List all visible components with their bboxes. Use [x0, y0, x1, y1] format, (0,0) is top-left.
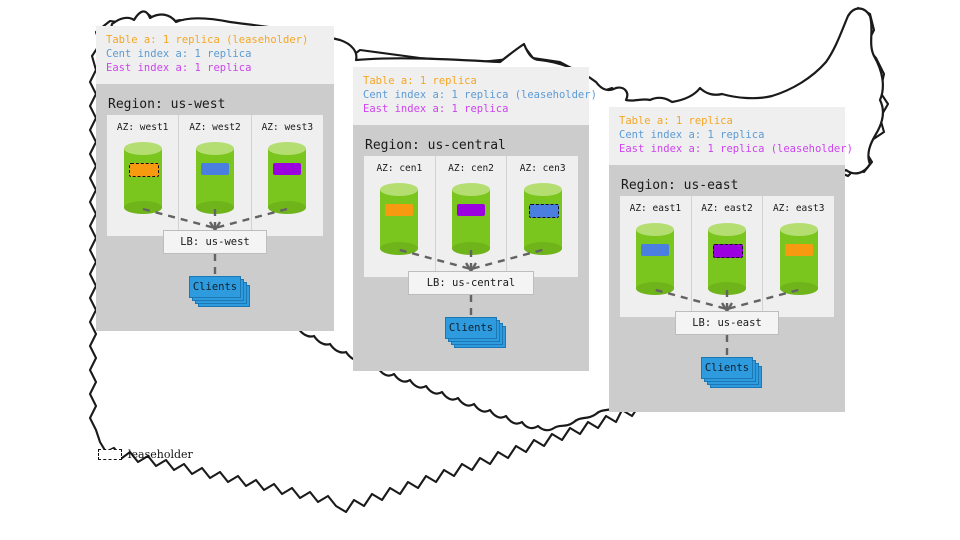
dashed-rect-icon	[98, 449, 122, 460]
az-to-lb-connector	[656, 290, 727, 309]
load-balancer-us-west[interactable]: LB: us-west	[163, 230, 267, 254]
region-panel-us-east: Table a: 1 replicaCent index a: 1 replic…	[609, 107, 845, 412]
az-to-lb-connector	[215, 209, 287, 228]
region-panel-us-west: Table a: 1 replica (leaseholder)Cent ind…	[96, 26, 334, 331]
az-to-lb-connector	[143, 209, 215, 228]
clients-stack-us-west[interactable]: Clients	[189, 276, 250, 307]
load-balancer-us-east[interactable]: LB: us-east	[675, 311, 779, 335]
clients-label[interactable]: Clients	[445, 317, 497, 339]
az-to-lb-connector	[400, 250, 471, 269]
leaseholder-key-label: leaseholder	[128, 448, 193, 461]
clients-label[interactable]: Clients	[189, 276, 241, 298]
leaseholder-key: leaseholder	[98, 448, 193, 461]
az-to-lb-connector	[471, 250, 542, 269]
clients-stack-us-east[interactable]: Clients	[701, 357, 762, 388]
clients-label[interactable]: Clients	[701, 357, 753, 379]
load-balancer-us-central[interactable]: LB: us-central	[408, 271, 533, 295]
region-panel-us-central: Table a: 1 replicaCent index a: 1 replic…	[353, 67, 589, 371]
az-to-lb-connector	[727, 290, 798, 309]
clients-stack-us-central[interactable]: Clients	[445, 317, 506, 348]
